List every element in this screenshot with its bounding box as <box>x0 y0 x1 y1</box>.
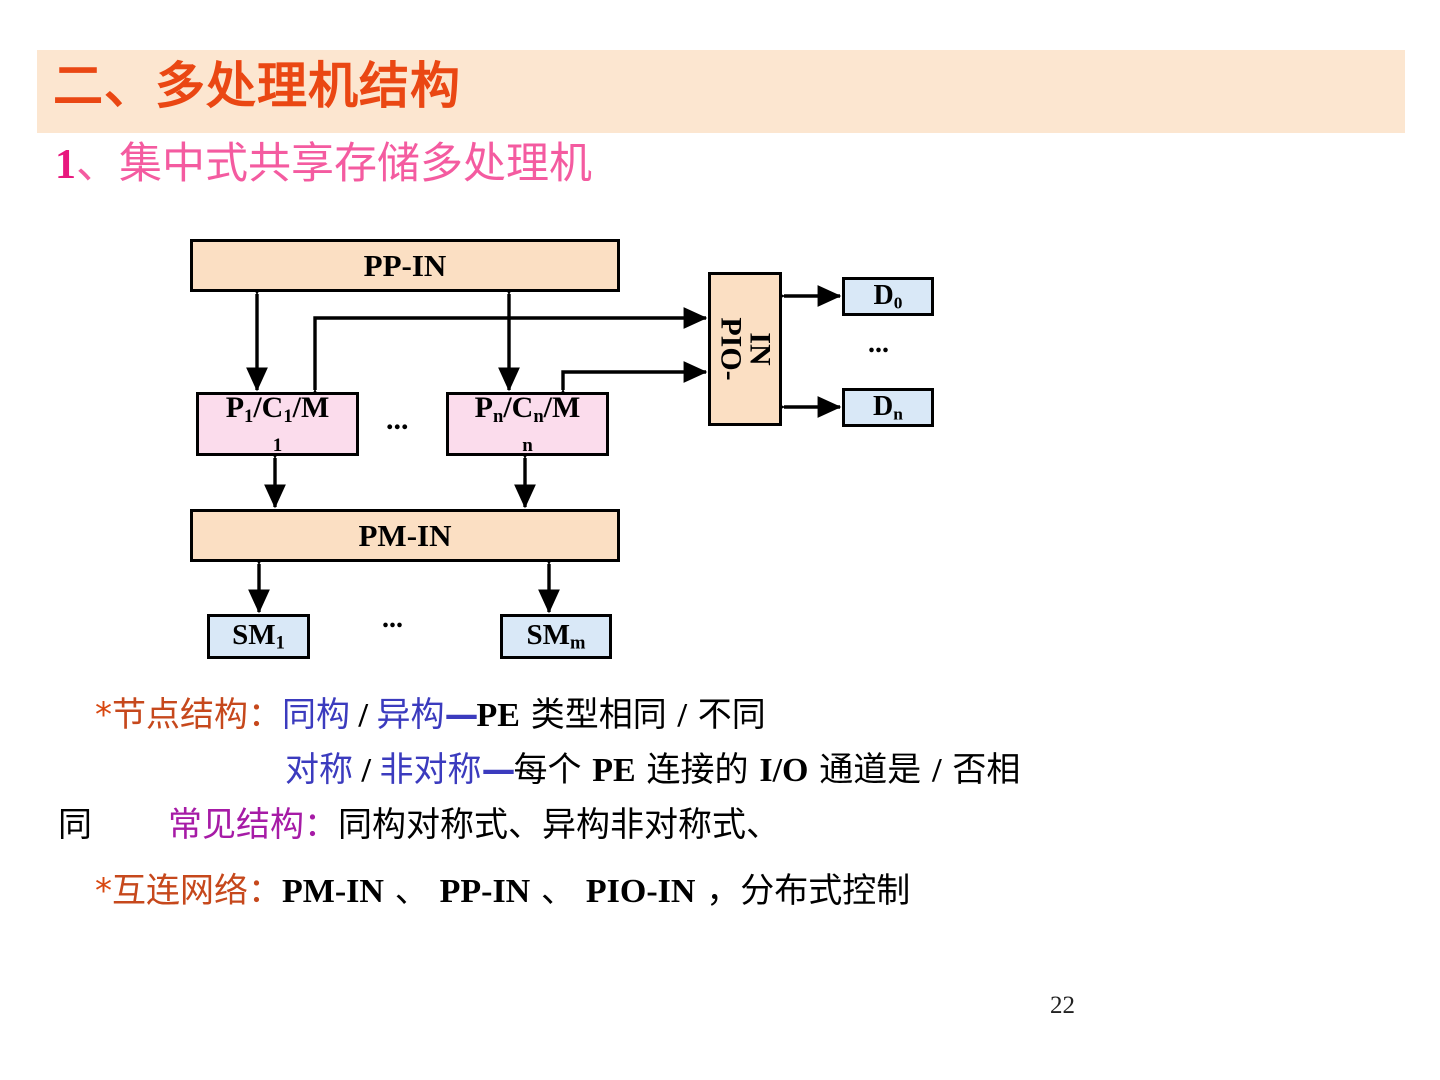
processor-node-1-sub: 1 <box>199 436 356 455</box>
processor-node-1-label: P1/C1/M <box>199 393 356 427</box>
notes-block: *节点结构：同构 / 异构—PE 类型相同 / 不同 对称 / 非对称—每个 P… <box>0 695 1440 912</box>
note-dash-1: — <box>444 695 476 735</box>
pm-in-box: PM-IN <box>190 509 620 562</box>
device-0-label: D0 <box>874 280 903 313</box>
note-network-pio-in: PIO-IN <box>586 873 696 910</box>
device-n: Dn <box>842 388 934 427</box>
processor-node-n: Pn/Cn/M n <box>446 392 609 456</box>
pio-in-label-line1: PIO- <box>717 317 746 380</box>
shared-memory-1-label: SM1 <box>232 619 285 655</box>
note-text-2a: 每个 <box>513 750 592 790</box>
bullet-star-2: * <box>95 871 112 911</box>
note-slash-2: / <box>678 697 687 734</box>
note-slash-3: / <box>353 752 379 789</box>
note-wrap-char: 同 <box>58 805 92 845</box>
note-term-pe-2: PE <box>592 752 635 789</box>
pp-in-box: PP-IN <box>190 239 620 292</box>
note-term-io: I/O <box>759 752 808 789</box>
shared-memory-ellipsis: ... <box>382 605 403 633</box>
note-option-symmetric: 对称 <box>285 750 353 790</box>
pio-in-label: IN PIO- <box>717 317 774 380</box>
note-network-pp-in: PP-IN <box>440 873 531 910</box>
note-sep-2: 、 <box>530 871 586 911</box>
device-0: D0 <box>842 277 934 316</box>
note-text-1b: 不同 <box>687 695 766 735</box>
note-text-2b: 连接的 <box>636 750 760 790</box>
note-network-pm-in: PM-IN <box>282 873 384 910</box>
note-text-2d: 否相 <box>942 750 1021 790</box>
processor-node-1: P1/C1/M 1 <box>196 392 359 456</box>
bullet-star-1: * <box>95 695 112 735</box>
note-slash-4: / <box>932 752 941 789</box>
note-dash-2: — <box>481 750 513 790</box>
processor-node-n-label: Pn/Cn/M <box>449 393 606 427</box>
note-line-common-structures: 同常见结构：同构对称式、异构非对称式、 <box>0 805 1440 845</box>
pio-in-box: IN PIO- <box>708 272 782 426</box>
note-line-interconnect: *互连网络：PM-IN 、 PP-IN 、 PIO-IN ，分布式控制 <box>0 871 1440 912</box>
shared-memory-m-label: SMm <box>527 619 586 655</box>
note-text-4: ，分布式控制 <box>695 871 910 911</box>
device-ellipsis: ... <box>868 330 889 358</box>
note-option-homogeneous: 同构 <box>282 695 350 735</box>
note-line-symmetry: 对称 / 非对称—每个 PE 连接的 I/O 通道是 / 否相 <box>0 750 1440 791</box>
pio-in-label-line2: IN <box>745 317 774 380</box>
note-label-common-structures: 常见结构： <box>168 805 338 845</box>
note-label-interconnect: 互连网络： <box>112 871 282 911</box>
note-line-node-structure: *节点结构：同构 / 异构—PE 类型相同 / 不同 <box>0 695 1440 736</box>
note-option-asymmetric: 非对称 <box>379 750 481 790</box>
note-label-node-structure: 节点结构： <box>112 695 282 735</box>
shared-memory-1: SM1 <box>207 614 310 659</box>
note-sep-1: 、 <box>384 871 440 911</box>
architecture-diagram: PP-IN P1/C1/M 1 ... Pn/Cn/M n PM-IN SM1 … <box>0 0 1440 700</box>
note-text-2c: 通道是 <box>808 750 932 790</box>
note-text-3: 同构对称式、异构非对称式、 <box>338 805 780 845</box>
note-option-heterogeneous: 异构 <box>376 695 444 735</box>
note-term-pe-1: PE <box>476 697 519 734</box>
shared-memory-m: SMm <box>500 614 612 659</box>
device-n-label: Dn <box>873 391 903 424</box>
note-slash-1: / <box>350 697 376 734</box>
note-text-1a: 类型相同 <box>520 695 678 735</box>
processor-node-n-sub: n <box>449 436 606 455</box>
processor-ellipsis: ... <box>386 405 409 435</box>
page-number: 22 <box>1050 992 1075 1020</box>
